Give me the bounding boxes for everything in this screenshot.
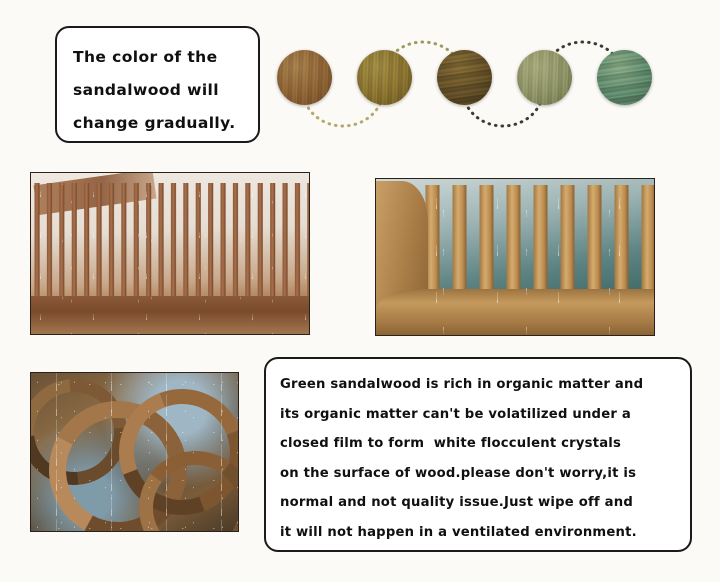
info-line-5: normal and not quality issue.Just wipe o…	[280, 488, 690, 518]
swatch-1-warm-brown	[277, 50, 332, 105]
swatch-3-dark-streaked	[437, 50, 492, 105]
headline-line-2: sandalwood will	[73, 74, 258, 107]
photo-fine-comb	[30, 172, 310, 335]
headline-line-3: change gradually.	[73, 107, 258, 140]
swatch-4-olive-green	[517, 50, 572, 105]
info-callout: Green sandalwood is rich in organic matt…	[264, 357, 692, 552]
photo-bangles-white-crystals	[31, 373, 238, 531]
photo-fine-comb-scene	[31, 173, 309, 334]
info-line-3: closed film to form white flocculent cry…	[280, 429, 690, 459]
info-line-1: Green sandalwood is rich in organic matt…	[280, 370, 690, 400]
swatch-5-green	[597, 50, 652, 105]
photo-bangles-scene	[31, 373, 238, 531]
info-line-2: its organic matter can't be volatilized …	[280, 400, 690, 430]
photo-fine-comb-white-crystals	[31, 173, 309, 334]
color-progression-strip	[264, 24, 692, 146]
photo-wide-comb-scene	[376, 179, 654, 335]
swatch-2-olive-brown	[357, 50, 412, 105]
headline-line-1: The color of the	[73, 41, 258, 74]
photo-wide-comb-white-crystals	[376, 179, 654, 335]
info-line-6: it will not happen in a ventilated envir…	[280, 518, 690, 548]
headline-callout: The color of the sandalwood will change …	[55, 26, 260, 143]
photo-bangles	[30, 372, 239, 532]
info-line-4: on the surface of wood.please don't worr…	[280, 459, 690, 489]
photo-wide-comb	[375, 178, 655, 336]
